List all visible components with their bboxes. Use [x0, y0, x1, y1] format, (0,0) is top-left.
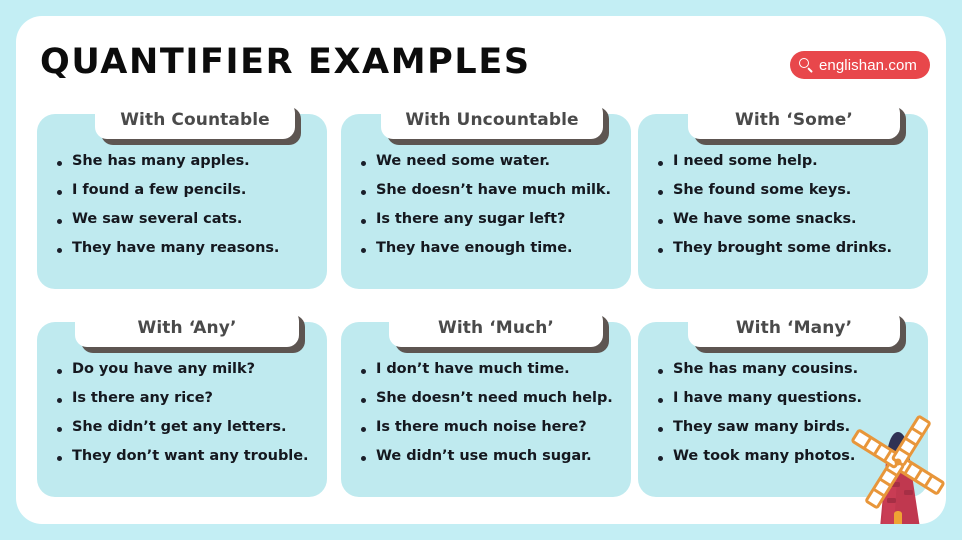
- card-tab-with-many: With ‘Many’: [688, 309, 900, 347]
- cards-grid: With CountableShe has many apples.I foun…: [16, 104, 946, 524]
- list-item: Do you have any milk?: [53, 362, 317, 378]
- list-item: They saw many birds.: [654, 420, 918, 436]
- list-item-text: I need some help.: [673, 154, 818, 170]
- list-item: They don’t want any trouble.: [53, 449, 317, 465]
- card-tab-with-countable: With Countable: [95, 101, 295, 139]
- list-item-text: They saw many birds.: [673, 420, 850, 436]
- list-item: They have enough time.: [357, 241, 621, 257]
- bullet-icon: [658, 369, 663, 374]
- list-item-text: We need some water.: [376, 154, 550, 170]
- card-with-any: With ‘Any’Do you have any milk?Is there …: [37, 322, 327, 497]
- card-tab-with-uncountable: With Uncountable: [381, 101, 603, 139]
- list-item: I have many questions.: [654, 391, 918, 407]
- list-item: They brought some drinks.: [654, 241, 918, 257]
- example-list: She has many apples.I found a few pencil…: [53, 154, 317, 270]
- list-item: We need some water.: [357, 154, 621, 170]
- bullet-icon: [57, 369, 62, 374]
- bullet-icon: [361, 190, 366, 195]
- list-item-text: Do you have any milk?: [72, 362, 255, 378]
- grid-cell: With CountableShe has many apples.I foun…: [37, 114, 327, 289]
- example-list: Do you have any milk?Is there any rice?S…: [53, 362, 317, 478]
- bullet-icon: [57, 398, 62, 403]
- tab-surface: With Uncountable: [381, 101, 603, 139]
- bullet-icon: [361, 161, 366, 166]
- list-item-text: She found some keys.: [673, 183, 851, 199]
- card-title: With ‘Many’: [736, 318, 852, 338]
- list-item-text: Is there much noise here?: [376, 420, 587, 436]
- list-item: I need some help.: [654, 154, 918, 170]
- card-with-much: With ‘Much’I don’t have much time. She d…: [341, 322, 631, 497]
- list-item-text: We saw several cats.: [72, 212, 242, 228]
- bullet-icon: [658, 398, 663, 403]
- list-item: Is there any sugar left?: [357, 212, 621, 228]
- card-with-countable: With CountableShe has many apples.I foun…: [37, 114, 327, 289]
- list-item-text: We have some snacks.: [673, 212, 857, 228]
- grid-cell: With UncountableWe need some water.She d…: [341, 114, 631, 289]
- list-item-text: She doesn’t have much milk.: [376, 183, 611, 199]
- tab-surface: With Countable: [95, 101, 295, 139]
- list-item-text: I don’t have much time.: [376, 362, 570, 378]
- bullet-icon: [658, 161, 663, 166]
- list-item-text: They brought some drinks.: [673, 241, 892, 257]
- bullet-icon: [361, 219, 366, 224]
- list-item: She has many cousins.: [654, 362, 918, 378]
- list-item-text: They have enough time.: [376, 241, 572, 257]
- card-title: With ‘Any’: [137, 318, 236, 338]
- list-item: They have many reasons.: [53, 241, 317, 257]
- card-title: With ‘Much’: [438, 318, 554, 338]
- list-item: Is there much noise here?: [357, 420, 621, 436]
- list-item-text: I found a few pencils.: [72, 183, 246, 199]
- brand-badge[interactable]: englishan.com: [790, 51, 930, 79]
- card-with-some: With ‘Some’I need some help.She found so…: [638, 114, 928, 289]
- bullet-icon: [57, 427, 62, 432]
- header: QUANTIFIER EXAMPLES englishan.com: [16, 16, 946, 104]
- card-tab-with-much: With ‘Much’: [389, 309, 603, 347]
- list-item-text: Is there any rice?: [72, 391, 213, 407]
- bullet-icon: [658, 427, 663, 432]
- tab-surface: With ‘Many’: [688, 309, 900, 347]
- example-list: I don’t have much time. She doesn’t need…: [357, 362, 621, 478]
- bullet-icon: [658, 190, 663, 195]
- list-item: We took many photos.: [654, 449, 918, 465]
- content-card: QUANTIFIER EXAMPLES englishan.com With C…: [16, 16, 946, 524]
- bullet-icon: [361, 427, 366, 432]
- card-title: With Countable: [120, 110, 270, 130]
- tab-surface: With ‘Much’: [389, 309, 603, 347]
- tab-surface: With ‘Any’: [75, 309, 299, 347]
- card-tab-with-any: With ‘Any’: [75, 309, 299, 347]
- list-item: She doesn’t need much help.: [357, 391, 621, 407]
- card-title: With Uncountable: [405, 110, 578, 130]
- list-item: I found a few pencils.: [53, 183, 317, 199]
- bullet-icon: [57, 161, 62, 166]
- list-item-text: We took many photos.: [673, 449, 855, 465]
- list-item-text: She doesn’t need much help.: [376, 391, 613, 407]
- tab-surface: With ‘Some’: [688, 101, 900, 139]
- list-item: She found some keys.: [654, 183, 918, 199]
- list-item: We saw several cats.: [53, 212, 317, 228]
- list-item-text: She has many cousins.: [673, 362, 858, 378]
- bullet-icon: [361, 369, 366, 374]
- brand-label: englishan.com: [819, 57, 917, 74]
- card-tab-with-some: With ‘Some’: [688, 101, 900, 139]
- list-item-text: She didn’t get any letters.: [72, 420, 286, 436]
- list-item-text: I have many questions.: [673, 391, 862, 407]
- bullet-icon: [361, 248, 366, 253]
- card-with-many: With ‘Many’She has many cousins.I have m…: [638, 322, 928, 497]
- example-list: She has many cousins.I have many questio…: [654, 362, 918, 478]
- bullet-icon: [361, 456, 366, 461]
- list-item-text: She has many apples.: [72, 154, 250, 170]
- page-title: QUANTIFIER EXAMPLES: [40, 42, 531, 82]
- grid-cell: With ‘Any’Do you have any milk?Is there …: [37, 322, 327, 497]
- list-item: She didn’t get any letters.: [53, 420, 317, 436]
- example-list: We need some water.She doesn’t have much…: [357, 154, 621, 270]
- bullet-icon: [57, 190, 62, 195]
- bullet-icon: [361, 398, 366, 403]
- bullet-icon: [57, 248, 62, 253]
- list-item: We didn’t use much sugar.: [357, 449, 621, 465]
- example-list: I need some help.She found some keys.We …: [654, 154, 918, 270]
- list-item-text: They have many reasons.: [72, 241, 279, 257]
- bullet-icon: [658, 456, 663, 461]
- card-with-uncountable: With UncountableWe need some water.She d…: [341, 114, 631, 289]
- list-item: She doesn’t have much milk.: [357, 183, 621, 199]
- grid-cell: With ‘Much’I don’t have much time. She d…: [341, 322, 631, 497]
- search-icon: [799, 58, 814, 73]
- grid-cell: With ‘Many’She has many cousins.I have m…: [638, 322, 928, 497]
- card-title: With ‘Some’: [735, 110, 853, 130]
- bullet-icon: [57, 456, 62, 461]
- poster-root: QUANTIFIER EXAMPLES englishan.com With C…: [0, 0, 962, 540]
- list-item-text: They don’t want any trouble.: [72, 449, 308, 465]
- list-item: I don’t have much time.: [357, 362, 621, 378]
- list-item-text: Is there any sugar left?: [376, 212, 565, 228]
- list-item: We have some snacks.: [654, 212, 918, 228]
- list-item: She has many apples.: [53, 154, 317, 170]
- list-item-text: We didn’t use much sugar.: [376, 449, 592, 465]
- bullet-icon: [658, 248, 663, 253]
- list-item: Is there any rice?: [53, 391, 317, 407]
- bullet-icon: [57, 219, 62, 224]
- grid-cell: With ‘Some’I need some help.She found so…: [638, 114, 928, 289]
- bullet-icon: [658, 219, 663, 224]
